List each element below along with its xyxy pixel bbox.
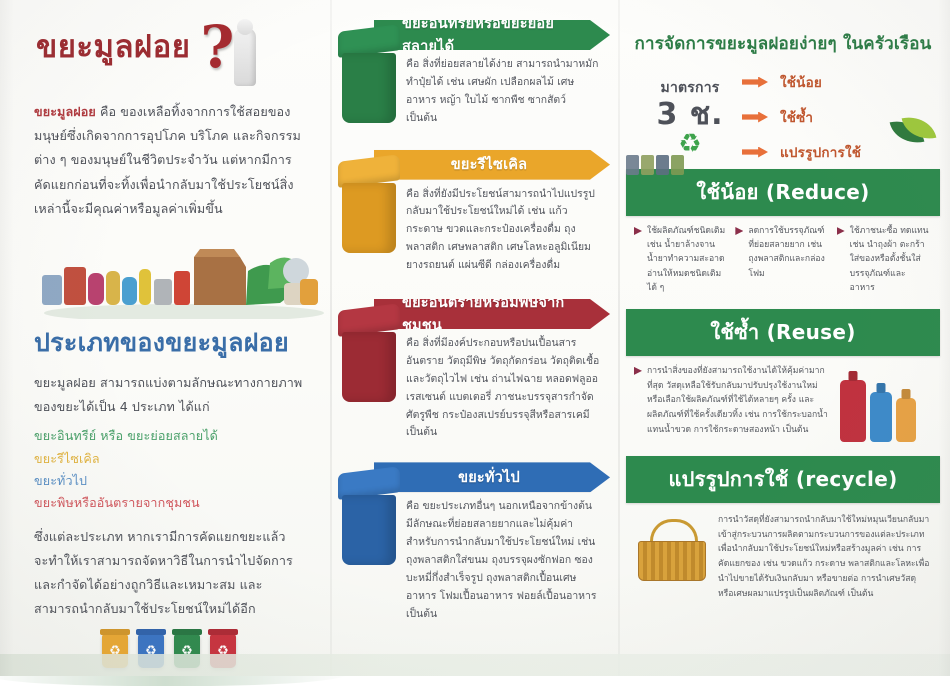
small-bin <box>671 155 684 175</box>
waste-block-recycle: ขยะรีไซเคิล คือ สิ่งที่ยังมีประโยชน์สามา… <box>336 150 610 275</box>
banner-hazard: ขยะอันตรายหรือมีพิษจากชุมชน <box>374 299 610 329</box>
bullet-text: การนำวัสดุที่ยังสามารถนำกลับมาใช้ใหม่หมุ… <box>718 513 930 602</box>
small-bin <box>626 155 639 175</box>
desc-organic: คือ สิ่งที่ย่อยสลายได้ง่าย สามารถนำมาหมั… <box>406 56 610 128</box>
measure-item-label: แปรรูปการใช้ <box>780 141 861 163</box>
bullet-text: ใช้ผลิตภัณฑ์ชนิดเติม เช่น น้ำยาล้างจาน น… <box>647 224 727 295</box>
reduce-bullets: ใช้ผลิตภัณฑ์ชนิดเติม เช่น น้ำยาล้างจาน น… <box>634 224 930 295</box>
reuse-block: ใช้ซ้ำ (Reuse) การนำสิ่งของที่ยังสามารถใ… <box>626 309 940 448</box>
banner-general: ขยะทั่วไป <box>374 462 610 492</box>
recycle-body: การนำวัสดุที่ยังสามารถนำกลับมาใช้ใหม่หมุ… <box>626 503 940 608</box>
desc-general: คือ ขยะประเภทอื่นๆ นอกเหนือจากข้างต้น มี… <box>406 498 610 623</box>
small-bin <box>641 155 654 175</box>
category-general: ขยะทั่วไป <box>34 470 304 492</box>
measure-items: ใช้น้อย ใช้ซ้ำ แปรรูปการใช้ <box>742 71 861 163</box>
bottle-orange <box>896 398 916 442</box>
reuse-banner: ใช้ซ้ำ (Reuse) <box>626 309 940 356</box>
three-measures-group: มาตรการ 3 ช. ♻ ใช้น้อย ใช้ซ้ำ แปรรูปการใ… <box>626 71 940 169</box>
bin-body <box>342 332 396 402</box>
reuse-content: การนำสิ่งของที่ยังสามารถใช้งานได้ให้คุ้ม… <box>634 364 930 442</box>
bullet-text: การนำสิ่งของที่ยังสามารถใช้งานได้ให้คุ้ม… <box>647 364 828 438</box>
mini-bin-lid <box>136 629 166 635</box>
bin-body <box>342 53 396 123</box>
small-bins-decoration <box>626 155 684 175</box>
bullet-arrow-icon <box>837 227 845 235</box>
page-title: ขยะมูลฝอย <box>36 30 190 64</box>
section-intro-text: ขยะมูลฝอย สามารถแบ่งตามลักษณะทางกายภาพขอ… <box>34 371 304 419</box>
household-management-title: การจัดการขยะมูลฝอยง่ายๆ ในครัวเรือน <box>626 30 940 57</box>
recycle-symbol-icon: ♻ <box>648 131 732 157</box>
right-panel: การจัดการขยะมูลฝอยง่ายๆ ในครัวเรือน มาตร… <box>618 0 950 676</box>
bottle-red <box>840 380 866 442</box>
category-recyclable: ขยะรีไซเคิล <box>34 448 304 470</box>
bullet-text: ใช้ภาชนะซื้อ ทดแทน เช่น นำถุงผ้า ตะกร้าใ… <box>850 224 930 295</box>
intro-lead-term: ขยะมูลฝอย <box>34 104 96 119</box>
reduce-block: ใช้น้อย (Reduce) ใช้ผลิตภัณฑ์ชนิดเติม เช… <box>626 169 940 301</box>
recycle-block: แปรรูปการใช้ (recycle) การนำวัสดุที่ยังส… <box>626 456 940 608</box>
mini-bin-lid <box>100 629 130 635</box>
desc-recycle: คือ สิ่งที่ยังมีประโยชน์สามารถนำไปแปรรูป… <box>406 186 610 275</box>
woven-basket-icon <box>634 519 708 581</box>
category-list: ขยะอินทรีย์ หรือ ขยะย่อยสลายได้ ขยะรีไซเ… <box>34 425 304 515</box>
left-panel: ขยะมูลฝอย ? ขยะมูลฝอย คือ ของเหลือทิ้งจา… <box>0 0 330 676</box>
middle-panel: ขยะอินทรีย์หรือขยะย่อยสลายได้ คือ สิ่งที… <box>330 0 618 676</box>
measure-item-recycle: แปรรูปการใช้ <box>742 141 861 163</box>
bullet-item: ใช้ภาชนะซื้อ ทดแทน เช่น นำถุงผ้า ตะกร้าใ… <box>837 224 930 295</box>
bullet-item: ลดการใช้บรรจุภัณฑ์ที่ย่อยสลายยาก เช่น ถุ… <box>735 224 828 295</box>
bullet-item: การนำสิ่งของที่ยังสามารถใช้งานได้ให้คุ้ม… <box>634 364 828 438</box>
recycle-content: การนำวัสดุที่ยังสามารถนำกลับมาใช้ใหม่หมุ… <box>634 513 930 602</box>
question-mark-illustration: ? <box>194 18 256 90</box>
bin-body <box>342 183 396 253</box>
person-figure-icon <box>234 28 256 86</box>
bin-body <box>342 495 396 565</box>
arrow-right-icon <box>742 112 768 123</box>
arrow-right-icon <box>742 77 768 88</box>
water-bottles-illustration <box>838 364 930 442</box>
measure-label: มาตรการ <box>648 77 732 99</box>
reuse-body: การนำสิ่งของที่ยังสามารถใช้งานได้ให้คุ้ม… <box>626 356 940 448</box>
measure-label-group: มาตรการ 3 ช. ♻ <box>648 77 732 158</box>
bullet-arrow-icon <box>634 227 642 235</box>
measure-item-reuse: ใช้ซ้ำ <box>742 106 861 128</box>
bullet-item: การนำวัสดุที่ยังสามารถนำกลับมาใช้ใหม่หมุ… <box>718 513 930 602</box>
mini-bin-lid <box>208 629 238 635</box>
banner-organic: ขยะอินทรีย์หรือขยะย่อยสลายได้ <box>374 20 610 50</box>
measure-item-label: ใช้น้อย <box>780 71 822 93</box>
bullet-arrow-icon <box>735 227 743 235</box>
leaf-icon <box>892 115 936 149</box>
closing-paragraph: ซึ่งแต่ละประเภท หากเรามีการคัดแยกขยะแล้ว… <box>34 525 304 622</box>
desc-hazard: คือ สิ่งที่มีองค์ประกอบหรือปนเปื้อนสารอั… <box>406 335 610 442</box>
arrow-right-icon <box>742 147 768 158</box>
measure-value: 3 ช. <box>648 99 732 131</box>
waste-items-photo <box>34 227 304 319</box>
waste-items-svg <box>34 227 324 319</box>
category-organic: ขยะอินทรีย์ หรือ ขยะย่อยสลายได้ <box>34 425 304 447</box>
question-mark-glyph: ? <box>200 18 234 76</box>
waste-block-general: ขยะทั่วไป คือ ขยะประเภทอื่นๆ นอกเหนือจาก… <box>336 462 610 623</box>
small-bin <box>656 155 669 175</box>
bullet-item: ใช้ผลิตภัณฑ์ชนิดเติม เช่น น้ำยาล้างจาน น… <box>634 224 727 295</box>
waste-block-hazard: ขยะอันตรายหรือมีพิษจากชุมชน คือ สิ่งที่ม… <box>336 299 610 442</box>
intro-rest-text: คือ ของเหลือทิ้งจากการใช้สอยของมนุษย์ซึ่… <box>34 104 301 216</box>
infographic-poster: ขยะมูลฝอย ? ขยะมูลฝอย คือ ของเหลือทิ้งจา… <box>0 0 950 676</box>
banner-recycle: ขยะรีไซเคิล <box>374 150 610 180</box>
intro-paragraph: ขยะมูลฝอย คือ ของเหลือทิ้งจากการใช้สอยขอ… <box>34 100 304 221</box>
basket-body <box>638 541 706 581</box>
title-row: ขยะมูลฝอย ? <box>36 30 304 90</box>
category-hazardous: ขยะพิษหรืออันตรายจากชุมชน <box>34 492 304 514</box>
trash-bin-icon <box>338 28 400 124</box>
footer-strip <box>0 654 950 676</box>
measure-item-reduce: ใช้น้อย <box>742 71 861 93</box>
trash-bin-icon <box>338 470 400 566</box>
trash-bin-icon <box>338 307 400 403</box>
mini-bin-lid <box>172 629 202 635</box>
measure-item-label: ใช้ซ้ำ <box>780 106 813 128</box>
trash-bin-icon <box>338 158 400 254</box>
waste-block-organic: ขยะอินทรีย์หรือขยะย่อยสลายได้ คือ สิ่งที… <box>336 20 610 128</box>
bullet-arrow-icon <box>634 367 642 375</box>
reduce-body: ใช้ผลิตภัณฑ์ชนิดเติม เช่น น้ำยาล้างจาน น… <box>626 216 940 301</box>
bottle-blue <box>870 392 892 442</box>
bullet-text: ลดการใช้บรรจุภัณฑ์ที่ย่อยสลายยาก เช่น ถุ… <box>748 224 828 295</box>
section-title-types: ประเภทของขยะมูลฝอย <box>34 323 304 363</box>
reduce-banner: ใช้น้อย (Reduce) <box>626 169 940 216</box>
recycle-banner: แปรรูปการใช้ (recycle) <box>626 456 940 503</box>
